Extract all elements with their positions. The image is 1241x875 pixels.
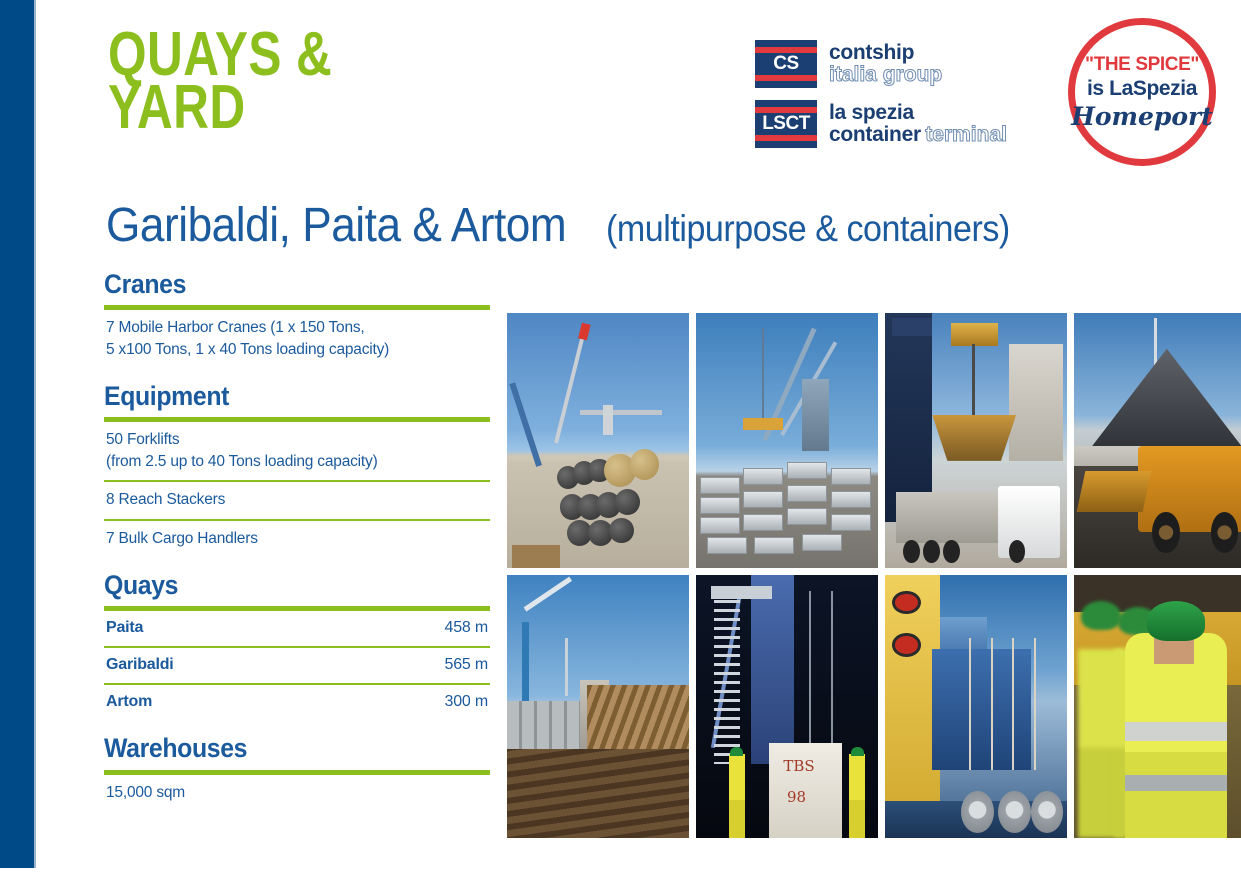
helmet-icon: [730, 747, 743, 756]
section-equipment: Equipment 50 Forklifts (from 2.5 up to 4…: [104, 382, 490, 557]
contship-mark-text: CS: [755, 53, 817, 75]
gantry-post: [603, 405, 613, 436]
equipment-item-reach-stackers: 8 Reach Stackers: [104, 482, 490, 518]
helmet-icon: [1081, 601, 1121, 630]
grab-bucket: [932, 415, 1016, 461]
warehouses-area: 15,000 sqm: [104, 775, 490, 811]
photo-marble-block-crane: TBS 98: [696, 575, 878, 838]
badge-line-1: "THE SPICE": [1085, 54, 1199, 76]
lsct-word-2: container: [829, 123, 921, 146]
ingot-stacks: [696, 425, 878, 568]
badge-line-2: is LaSpezia: [1087, 77, 1197, 101]
lsct-word-3: terminal: [925, 123, 1007, 146]
main-heading-subtitle: (multipurpose & containers): [606, 208, 1010, 250]
left-accent-bar: [0, 0, 34, 868]
crane-red: [554, 329, 586, 444]
section-title-cranes: Cranes: [104, 270, 459, 298]
lsct-mark-text: LSCT: [755, 113, 817, 135]
quay-value: 300 m: [445, 693, 488, 711]
section-cranes: Cranes 7 Mobile Harbor Cranes (1 x 150 T…: [104, 270, 490, 368]
quay-row-garibaldi: Garibaldi 565 m: [104, 648, 490, 683]
section-title-equipment: Equipment: [104, 382, 459, 410]
pipe-stack: [554, 435, 685, 552]
logo-stripe-bottom: [755, 135, 817, 141]
section-title-warehouses: Warehouses: [104, 734, 459, 762]
crane-arm: [892, 318, 932, 336]
helmet-icon: [1147, 601, 1205, 640]
grab-cable: [972, 344, 975, 415]
main-heading-title: Garibaldi, Paita & Artom: [106, 198, 566, 253]
section-warehouses: Warehouses 15,000 sqm: [104, 734, 490, 811]
left-accent-edge: [34, 0, 36, 868]
photo-aluminium-ingots: [696, 313, 878, 568]
cable-reel-2: [998, 791, 1031, 833]
concrete-wall: [1009, 344, 1064, 461]
worker-left: [729, 754, 745, 838]
worker-right: [849, 754, 865, 838]
steel-bars: [507, 749, 689, 838]
timber-pallet: [512, 545, 559, 568]
section-quays: Quays Paita 458 m Garibaldi 565 m Artom …: [104, 571, 490, 720]
photo-crane-cable-reels: [885, 575, 1067, 838]
contship-word-2: italia group: [829, 64, 942, 86]
quay-label: Artom: [106, 693, 152, 711]
light-pole: [1154, 318, 1157, 369]
equipment-item-forklifts: 50 Forklifts (from 2.5 up to 40 Tons loa…: [104, 422, 490, 480]
gantry-beam: [580, 410, 662, 415]
quay-label: Paita: [106, 619, 143, 637]
quay-row-artom: Artom 300 m: [104, 685, 490, 720]
reflective-stripe-lower: [1125, 775, 1227, 791]
specifications-column: Cranes 7 Mobile Harbor Cranes (1 x 150 T…: [104, 270, 490, 811]
main-heading: Garibaldi, Paita & Artom (multipurpose &…: [106, 198, 1045, 253]
cable-reel-3: [1031, 791, 1064, 833]
photo-steel-pipes-quay: [507, 313, 689, 568]
crane-platform: [711, 586, 773, 599]
cranes-description: 7 Mobile Harbor Cranes (1 x 150 Tons, 5 …: [104, 310, 490, 368]
contship-word-1: contship: [829, 42, 942, 64]
cable-reel-1: [961, 791, 994, 833]
section-title-quays: Quays: [104, 571, 459, 599]
truck-cab: [998, 486, 1060, 557]
equipment-item-bulk-handlers: 7 Bulk Cargo Handlers: [104, 521, 490, 557]
badge-line-3: Homeport: [1071, 102, 1213, 131]
quay-label: Garibaldi: [106, 656, 174, 674]
crane-jib: [524, 576, 572, 611]
logo-block: CS contship italia group LSCT la spezia …: [755, 40, 1007, 160]
lsct-logo-mark: LSCT: [755, 100, 817, 148]
quay-value: 458 m: [445, 619, 488, 637]
access-stairs: [714, 591, 739, 765]
lsct-word-line2: container terminal: [829, 124, 1007, 146]
contship-logo: CS contship italia group: [755, 40, 1007, 88]
photo-grab-crane-truck: [885, 313, 1067, 568]
contship-logo-mark: CS: [755, 40, 817, 88]
coal-stockpile: [1089, 349, 1241, 451]
helmet-icon: [851, 747, 864, 756]
lsct-logo-words: la spezia container terminal: [829, 102, 1007, 146]
page-title: QUAYS & YARD: [108, 28, 524, 135]
loader-bucket: [1077, 471, 1151, 512]
logo-stripe-bottom: [755, 75, 817, 81]
photo-logs-rebar: [507, 575, 689, 838]
marble-mark-number: 98: [787, 788, 806, 806]
worker-neck: [1154, 638, 1194, 664]
marble-mark-code: TBS: [783, 757, 814, 775]
spice-homeport-badge: "THE SPICE" is LaSpezia Homeport: [1068, 18, 1216, 166]
photo-dock-workers: [1074, 575, 1241, 838]
contship-logo-words: contship italia group: [829, 42, 942, 86]
photo-coal-pile-loader: [1074, 313, 1241, 568]
crane-cable: [762, 328, 764, 420]
lsct-logo: LSCT la spezia container terminal: [755, 100, 1007, 148]
quay-row-paita: Paita 458 m: [104, 611, 490, 646]
photo-gallery: TBS 98: [507, 313, 1241, 838]
signal-lamp-bottom: [892, 633, 921, 657]
quay-value: 565 m: [445, 656, 488, 674]
light-mast: [565, 638, 568, 696]
reflective-stripe-upper: [1125, 722, 1227, 740]
blue-crane-tower: [751, 575, 795, 764]
lsct-word-1: la spezia: [829, 102, 1007, 124]
crane-blue: [509, 383, 541, 467]
truck-trailer: [896, 492, 998, 543]
crane-blue-body: [932, 649, 1030, 770]
